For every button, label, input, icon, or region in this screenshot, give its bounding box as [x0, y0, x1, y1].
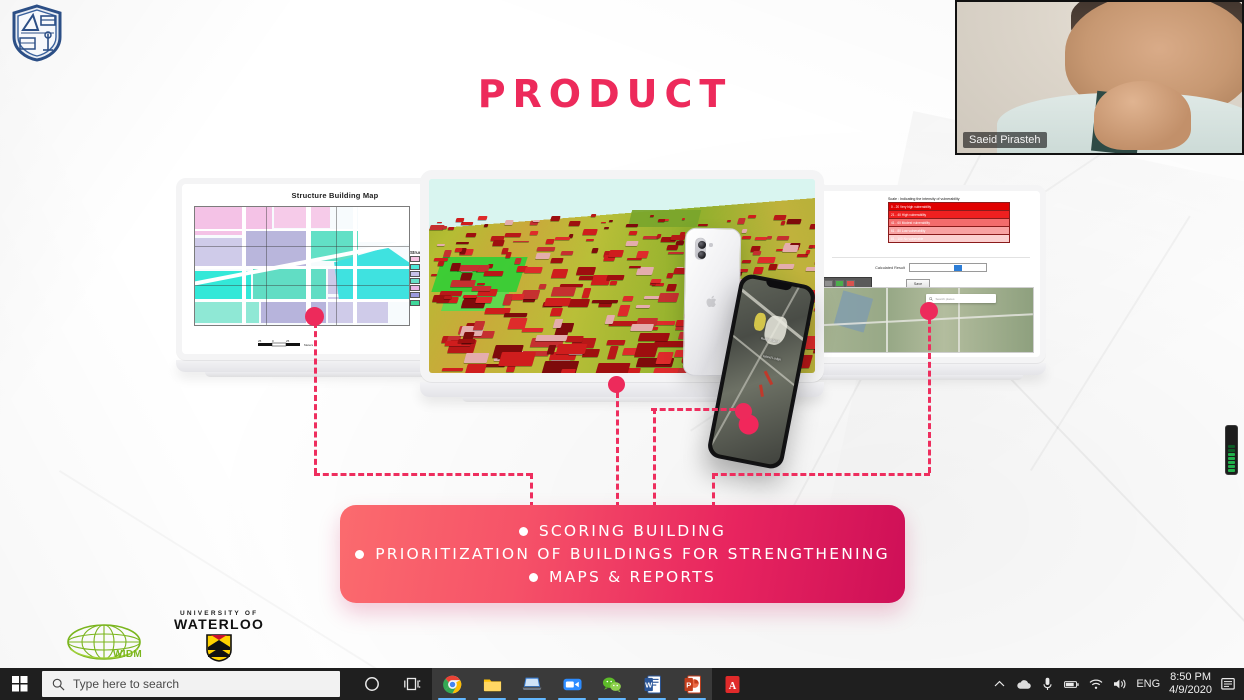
building-block [471, 286, 492, 291]
feature-label: MAPS & REPORTS [549, 568, 716, 586]
building-block [461, 222, 474, 225]
building-block [657, 293, 679, 302]
search-icon [52, 678, 65, 691]
building-block [529, 231, 538, 235]
building-block [626, 224, 639, 227]
legend-swatch [410, 271, 420, 277]
form-map[interactable]: Search places [810, 287, 1034, 353]
building-block [606, 340, 625, 345]
chrome-icon[interactable] [432, 668, 472, 700]
bullet-icon [519, 527, 528, 536]
feature-label: PRIORITIZATION OF BUILDINGS FOR STRENGTH… [375, 545, 890, 563]
clock[interactable]: 8:50 PM 4/9/2020 [1169, 671, 1212, 697]
battery-icon[interactable] [1064, 677, 1079, 692]
scale-row: 61 - 80 Low vulnerability [889, 227, 1010, 235]
vulnerability-scoring-form: Scale : Indicating the intensity of vuln… [796, 191, 1040, 357]
building-block [555, 344, 587, 354]
svg-text:A: A [728, 680, 736, 691]
video-participant-panel[interactable]: Saeid Pirasteh [955, 0, 1244, 155]
building-block [568, 221, 580, 226]
legend-swatch [410, 278, 420, 284]
scale-row-label: 41 - 60 Modest vulnerability [889, 219, 1010, 227]
building-block [609, 281, 617, 285]
svg-text:P: P [686, 680, 691, 689]
bullet-icon [355, 550, 364, 559]
popup-button[interactable] [846, 280, 855, 287]
svg-text:W: W [645, 680, 653, 689]
system-tray: ENG 8:50 PM 4/9/2020 [992, 671, 1244, 697]
map-search-input[interactable]: Search places [926, 294, 996, 303]
calculated-result-row: Calculated Result [832, 263, 1030, 272]
building-block [463, 353, 489, 363]
connector-left-horizontal [314, 473, 532, 476]
footer-logos: WIDM UNIVERSITY OF WATERLOO [66, 610, 264, 662]
form-divider [832, 257, 1030, 258]
remote-desktop-icon[interactable] [512, 668, 552, 700]
building-block [456, 242, 470, 244]
onedrive-icon[interactable] [1016, 677, 1031, 692]
building-block [777, 236, 791, 240]
connector-phone-vertical [653, 408, 656, 508]
building-block [462, 295, 477, 298]
meter-segment [1228, 445, 1235, 448]
building-block [550, 287, 575, 296]
calculated-result-input[interactable] [909, 263, 987, 272]
building-block [476, 297, 494, 303]
building-block [773, 215, 786, 220]
building-block [483, 271, 504, 276]
building-block [507, 318, 527, 329]
cortana-icon[interactable] [352, 668, 392, 700]
university-crest-icon [10, 4, 64, 62]
feature-item: PRIORITIZATION OF BUILDINGS FOR STRENGTH… [355, 545, 890, 563]
building-block [670, 235, 685, 240]
meter-segment [1228, 453, 1235, 456]
legend-swatch [410, 292, 420, 298]
building-block [697, 224, 707, 226]
building-block [582, 229, 597, 235]
clock-time: 8:50 PM [1169, 671, 1212, 684]
building-block [786, 219, 801, 224]
scale-row: 81 - 100 No vulnerable [889, 235, 1010, 243]
audio-level-meter [1225, 425, 1238, 475]
building-block [544, 298, 572, 306]
scale-row-label: 21 - 40 High vulnerability [889, 211, 1010, 219]
building-block [628, 231, 637, 235]
feature-label: SCORING BUILDING [539, 522, 726, 540]
feature-item: SCORING BUILDING [519, 522, 726, 540]
phone-camera-module-icon [695, 238, 706, 260]
building-block [753, 267, 763, 274]
legend-swatch [410, 300, 420, 306]
building-block [629, 266, 642, 268]
building-block [536, 247, 555, 251]
uw-line-2: WATERLOO [174, 617, 264, 632]
building-block [535, 253, 551, 259]
building-block [638, 333, 670, 341]
scale-row: 0 - 20 Very high vulnerability [889, 203, 1010, 211]
popup-button[interactable] [835, 280, 844, 287]
apple-logo-icon [706, 295, 718, 309]
participant-hand [1094, 81, 1191, 150]
meter-segment [1228, 461, 1235, 464]
screen-root: PRODUCT Structure Building Map [0, 0, 1244, 700]
building-block [737, 218, 746, 224]
windows-logo-icon [12, 676, 28, 692]
windows-taskbar: Type here to search [0, 668, 1244, 700]
marker-left-map [305, 307, 324, 326]
building-block [630, 324, 654, 331]
building-block [813, 308, 815, 311]
microphone-icon[interactable] [1040, 677, 1055, 692]
svg-text:25: 25 [286, 339, 290, 343]
clock-date: 4/9/2020 [1169, 684, 1212, 697]
bullet-icon [529, 573, 538, 582]
map-search-placeholder: Search places [935, 297, 954, 301]
map-scalebar: 25 0 25 Meters [254, 336, 332, 347]
marker-right-form [920, 302, 938, 320]
building-block [635, 305, 650, 308]
building-block [535, 335, 567, 341]
meter-segment [1228, 449, 1235, 452]
building-block [666, 245, 678, 250]
meter-segment [1228, 465, 1235, 468]
building-block [551, 216, 561, 221]
building-block [754, 237, 767, 240]
building-block [551, 269, 568, 278]
building-block [595, 363, 630, 373]
building-block [576, 267, 597, 275]
building-block [454, 248, 462, 252]
meter-segment [1228, 457, 1235, 460]
file-explorer-icon[interactable] [472, 668, 512, 700]
building-block [550, 308, 563, 316]
connector-right-vertical [928, 318, 931, 473]
widm-label: WIDM [113, 649, 142, 660]
laptop-right-base [790, 363, 1046, 375]
building-block [782, 245, 799, 252]
word-icon[interactable]: W [632, 668, 672, 700]
building-block [766, 236, 772, 239]
building-block [554, 237, 570, 240]
calculated-result-label: Calculated Result [875, 266, 905, 270]
popup-button[interactable] [824, 280, 833, 287]
building-block [514, 258, 521, 264]
marker-center-3d [608, 376, 625, 393]
building-block [455, 218, 464, 222]
building-block [524, 267, 543, 273]
building-block [443, 296, 452, 299]
building-block [626, 241, 639, 246]
scale-row-label: 81 - 100 No vulnerable [889, 235, 1010, 243]
building-block [741, 229, 747, 233]
zoom-icon[interactable] [552, 668, 592, 700]
connector-center [616, 392, 619, 508]
building-block [465, 233, 476, 237]
svg-text:Meters: Meters [304, 343, 314, 347]
widm-logo: WIDM [66, 616, 144, 662]
laptop-right-screen: Scale : Indicating the intensity of vuln… [790, 185, 1046, 363]
wifi-icon[interactable] [1088, 677, 1103, 692]
search-input[interactable]: Type here to search [42, 671, 340, 697]
uw-shield-icon [206, 634, 232, 662]
meter-segment [1228, 469, 1235, 472]
building-block [498, 352, 536, 366]
scale-header: Scale : Indicating the intensity of vuln… [888, 197, 1010, 201]
notifications-icon[interactable] [1221, 677, 1236, 692]
building-block [657, 219, 665, 222]
phone-flash-icon [709, 243, 713, 247]
task-view-icon[interactable] [392, 668, 432, 700]
connector-right-drop [712, 473, 715, 508]
video-feed [957, 2, 1242, 153]
participant-name-label: Saeid Pirasteh [963, 132, 1047, 148]
scale-row-label: 61 - 80 Low vulnerability [889, 227, 1010, 235]
building-block [809, 224, 815, 229]
search-icon [929, 297, 933, 301]
building-block [601, 222, 606, 223]
connector-left-drop [530, 473, 533, 508]
laptop-right-foot [813, 375, 1023, 380]
building-block [504, 233, 521, 237]
powerpoint-icon[interactable]: P [672, 668, 712, 700]
legend-swatch [410, 256, 420, 262]
language-indicator[interactable]: ENG [1136, 678, 1160, 690]
search-placeholder: Type here to search [73, 677, 179, 691]
building-block [608, 250, 624, 257]
start-button[interactable] [0, 668, 40, 700]
feature-item: MAPS & REPORTS [529, 568, 716, 586]
legend-swatch [410, 264, 420, 270]
building-block [437, 222, 442, 223]
building-block [568, 299, 590, 307]
svg-text:0: 0 [272, 339, 274, 343]
building-block [511, 294, 525, 300]
building-block [622, 296, 633, 301]
building-block [606, 275, 624, 280]
building-block [741, 260, 751, 263]
vulnerability-scale-table: Scale : Indicating the intensity of vuln… [888, 197, 1010, 243]
building-block [742, 236, 752, 239]
building-block [477, 216, 488, 220]
building-block [565, 336, 584, 342]
building-block [778, 264, 795, 269]
building-block [551, 258, 564, 263]
building-block [464, 364, 487, 373]
building-block [560, 251, 573, 255]
laptop-right: Scale : Indicating the intensity of vuln… [790, 185, 1046, 380]
building-block [457, 265, 480, 271]
acrobat-icon[interactable]: A [712, 668, 752, 700]
building-block [608, 220, 612, 222]
scale-row-label: 0 - 20 Very high vulnerability [889, 203, 1010, 211]
feature-highlights-box: SCORING BUILDING PRIORITIZATION OF BUILD… [340, 505, 905, 603]
building-block [650, 215, 654, 217]
svg-text:25: 25 [258, 339, 262, 343]
taskbar-app-icons: W P A [352, 668, 752, 700]
chevron-up-icon[interactable] [992, 677, 1007, 692]
connector-phone-horizontal [651, 408, 744, 411]
building-block [805, 267, 815, 271]
building-block [757, 257, 776, 263]
building-block [545, 239, 554, 244]
building-block [666, 284, 677, 291]
wechat-icon[interactable] [592, 668, 632, 700]
marker-phone [735, 403, 752, 420]
building-block [752, 251, 761, 255]
connector-left-vertical [314, 322, 317, 474]
volume-icon[interactable] [1112, 677, 1127, 692]
building-block [533, 220, 541, 222]
university-of-waterloo-logo: UNIVERSITY OF WATERLOO [174, 610, 264, 662]
input-selection [954, 265, 962, 271]
connector-right-horizontal [712, 473, 930, 476]
map-canvas [194, 206, 410, 326]
scale-row: 21 - 40 High vulnerability [889, 211, 1010, 219]
legend-swatch [410, 285, 420, 291]
building-block [442, 368, 464, 371]
building-block [636, 267, 654, 275]
scale-row: 41 - 60 Modest vulnerability [889, 219, 1010, 227]
building-block [457, 339, 475, 343]
